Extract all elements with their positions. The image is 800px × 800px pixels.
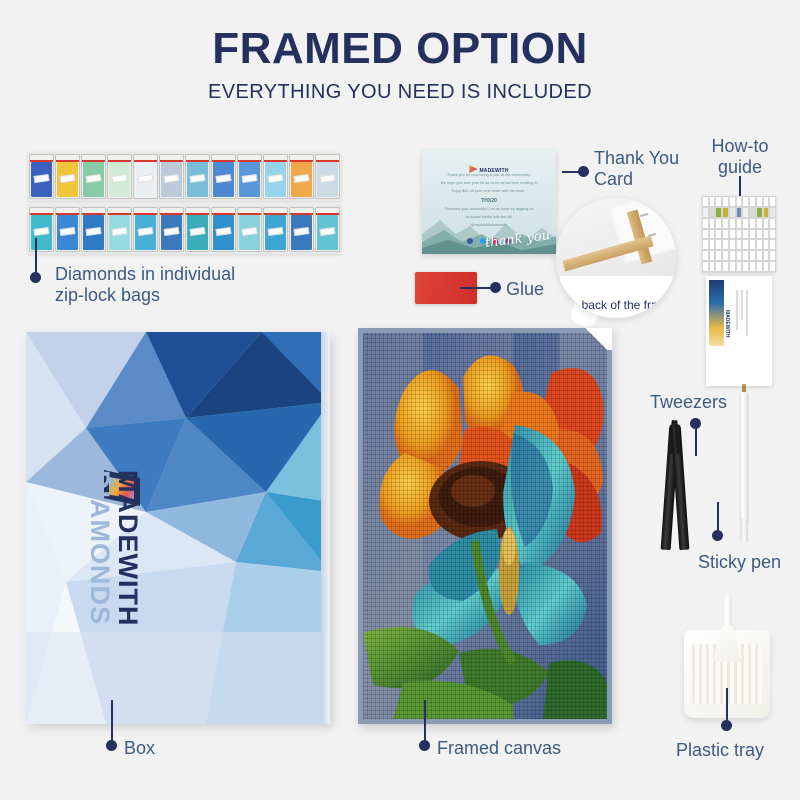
chart-cell [763, 218, 770, 229]
product-box [26, 332, 330, 724]
chart-cell [702, 196, 709, 207]
framed-canvas [358, 328, 612, 724]
bag-zip-strip [56, 160, 79, 162]
chart-cell [702, 261, 709, 272]
box-leader-dot [106, 740, 117, 751]
chart-cell [756, 207, 763, 218]
bag-zip-strip [134, 160, 157, 162]
pen-cap [740, 518, 748, 544]
chart-cell [742, 229, 749, 240]
chart-cell [729, 196, 736, 207]
zip-lock-bag [263, 207, 288, 252]
chart-cell [729, 261, 736, 272]
chart-cell [722, 261, 729, 272]
facebook-icon [467, 238, 473, 244]
tray-leader-dot [721, 720, 732, 731]
chart-cell [736, 229, 743, 240]
chart-cell [769, 196, 776, 207]
color-chart [702, 196, 776, 272]
chart-cell [709, 229, 716, 240]
bag-zip-strip [108, 213, 131, 215]
chart-cell [722, 239, 729, 250]
sticky-pen [736, 384, 752, 544]
zip-lock-bag [211, 207, 236, 252]
label-sticky-pen: Sticky pen [698, 552, 781, 573]
label-plastic-tray: Plastic tray [676, 740, 764, 761]
bag-zip-strip [238, 213, 261, 215]
diamond-bead-grid [363, 333, 607, 719]
chart-cell [756, 196, 763, 207]
zip-lock-bag [237, 154, 262, 199]
box-brand-text: MADEWITH DIAMONDS [85, 470, 142, 626]
tray-spout [722, 596, 732, 626]
canvas-corner-peel [586, 328, 612, 350]
bag-zip-strip [316, 160, 339, 162]
bag-zip-strip [290, 213, 313, 215]
guide-brand: MADEWITH [724, 310, 730, 338]
chart-cell [729, 207, 736, 218]
chart-cell [749, 229, 756, 240]
zip-lock-bag [185, 207, 210, 252]
bag-zip-strip [160, 213, 183, 215]
chart-cell [749, 261, 756, 272]
how-to-guide: MADEWITH [700, 196, 778, 386]
chart-cell [742, 207, 749, 218]
chart-cell [729, 250, 736, 261]
chart-cell [756, 250, 763, 261]
chart-cell [763, 250, 770, 261]
bag-zip-strip [212, 213, 235, 215]
chart-cell [702, 250, 709, 261]
thankyou-leader-dot [578, 166, 589, 177]
chart-cell [736, 207, 743, 218]
guide-sheet: MADEWITH [706, 276, 772, 386]
bag-zip-strip [30, 213, 53, 215]
chart-cell [749, 218, 756, 229]
bag-zip-strip [290, 160, 313, 162]
chart-cell [742, 250, 749, 261]
page-subtitle: EVERYTHING YOU NEED IS INCLUDED [0, 81, 800, 104]
glue-leader-dot [490, 282, 501, 293]
zip-lock-bag [211, 154, 236, 199]
bag-zip-strip [82, 160, 105, 162]
label-thank-you-card: Thank You Card [594, 148, 679, 189]
chart-cell [763, 207, 770, 218]
bag-zip-strip [212, 160, 235, 162]
stickypen-leader-dot [712, 530, 723, 541]
zip-lock-bag [55, 207, 80, 252]
label-framed-canvas: Framed canvas [437, 738, 561, 759]
tweezer-tip [674, 420, 679, 454]
guide-text-line [736, 290, 738, 330]
chart-cell [769, 239, 776, 250]
chart-cell [763, 196, 770, 207]
zip-lock-bag [81, 207, 106, 252]
chart-cell [709, 239, 716, 250]
chart-cell [715, 207, 722, 218]
chart-cell [742, 218, 749, 229]
box-leader-line [111, 700, 113, 744]
chart-cell [749, 239, 756, 250]
zip-lock-bag [315, 154, 340, 199]
chart-cell [715, 250, 722, 261]
frame-photo [556, 198, 676, 276]
chart-cell [769, 229, 776, 240]
social-handle: @madewithdiamonds [432, 222, 546, 230]
chart-cell [769, 218, 776, 229]
zip-lock-bag [29, 154, 54, 199]
chart-cell [763, 229, 770, 240]
canvas-leader-dot [419, 740, 430, 751]
chart-cell [702, 229, 709, 240]
discount-code: THX20 [432, 198, 546, 204]
bag-zip-strip [82, 213, 105, 215]
diamond-bags-row-1 [28, 152, 341, 201]
chart-cell [736, 261, 743, 272]
label-how-to-guide: How-to guide [700, 136, 780, 177]
diamond-bags-row-2 [28, 205, 341, 254]
label-tweezers: Tweezers [650, 392, 727, 413]
chart-cell [715, 196, 722, 207]
zip-lock-bag [289, 154, 314, 199]
diamonds-leader-line [35, 238, 37, 274]
guide-text-line [746, 290, 748, 336]
frame-back-callout: The back of the frame [556, 198, 676, 318]
zip-lock-bag [159, 207, 184, 252]
zip-lock-bag [185, 154, 210, 199]
zip-lock-bag [133, 207, 158, 252]
bag-zip-strip [108, 160, 131, 162]
zip-lock-bag [107, 154, 132, 199]
label-glue: Glue [506, 279, 544, 300]
box-brand-logo: MADEWITH DIAMONDS [104, 470, 140, 506]
chart-cell [756, 261, 763, 272]
bag-zip-strip [186, 160, 209, 162]
zip-lock-bag [263, 154, 288, 199]
label-frame-back: The back of the frame [556, 298, 676, 312]
chart-cell [742, 196, 749, 207]
bag-zip-strip [316, 213, 339, 215]
chart-cell [715, 218, 722, 229]
canvas-leader-line [424, 700, 426, 744]
infographic-stage: FRAMED OPTION EVERYTHING YOU NEED IS INC… [0, 0, 800, 800]
chart-cell [709, 218, 716, 229]
chart-cell [769, 207, 776, 218]
chart-cell [715, 239, 722, 250]
chart-cell [769, 250, 776, 261]
label-box: Box [124, 738, 155, 759]
chart-cell [722, 229, 729, 240]
chart-cell [749, 196, 756, 207]
chart-cell [722, 207, 729, 218]
guide-text-line [741, 290, 743, 320]
canvas-artwork [363, 333, 607, 719]
chart-cell [709, 207, 716, 218]
bag-zip-strip [134, 213, 157, 215]
bag-zip-strip [186, 213, 209, 215]
guide-sheet-image [709, 280, 724, 346]
chart-cell [722, 250, 729, 261]
zip-lock-bag [289, 207, 314, 252]
chart-cell [729, 218, 736, 229]
chart-cell [736, 239, 743, 250]
chart-cell [756, 229, 763, 240]
zip-lock-bag [315, 207, 340, 252]
chart-cell [729, 239, 736, 250]
bag-zip-strip [30, 160, 53, 162]
zip-lock-bag [81, 154, 106, 199]
chart-cell [769, 261, 776, 272]
chart-cell [715, 229, 722, 240]
zip-lock-bag [55, 154, 80, 199]
bag-zip-strip [264, 160, 287, 162]
chart-cell [749, 207, 756, 218]
zip-lock-bag [107, 207, 132, 252]
box-lowpoly-artwork [26, 332, 330, 724]
tweezers-leader-line [695, 424, 697, 456]
chart-cell [729, 229, 736, 240]
chart-cell [749, 250, 756, 261]
thank-you-card: MADEWITH Thank you for now being a part … [422, 150, 556, 254]
box-right-edge [321, 332, 330, 724]
chart-cell [756, 218, 763, 229]
zip-lock-bag [159, 154, 184, 199]
chart-cell [756, 239, 763, 250]
bag-zip-strip [56, 213, 79, 215]
chart-cell [709, 250, 716, 261]
zip-lock-bag [133, 154, 158, 199]
chart-cell [709, 261, 716, 272]
chart-cell [736, 218, 743, 229]
chart-cell [702, 218, 709, 229]
chart-cell [736, 196, 743, 207]
label-diamonds: Diamonds in individual zip-lock bags [55, 264, 235, 305]
bag-zip-strip [160, 160, 183, 162]
pen-body [739, 392, 749, 524]
chart-cell [702, 207, 709, 218]
zip-lock-bag [29, 207, 54, 252]
chart-cell [722, 218, 729, 229]
bag-zip-strip [264, 213, 287, 215]
chart-cell [715, 261, 722, 272]
chart-cell [763, 261, 770, 272]
chart-cell [722, 196, 729, 207]
bag-zip-strip [238, 160, 261, 162]
chart-cell [742, 261, 749, 272]
chart-cell [742, 239, 749, 250]
tray-leader-line [726, 688, 728, 724]
chart-cell [702, 239, 709, 250]
chart-cell [736, 250, 743, 261]
chart-cell [763, 239, 770, 250]
zip-lock-bag [237, 207, 262, 252]
page-title: FRAMED OPTION [0, 24, 800, 74]
chart-cell [709, 196, 716, 207]
